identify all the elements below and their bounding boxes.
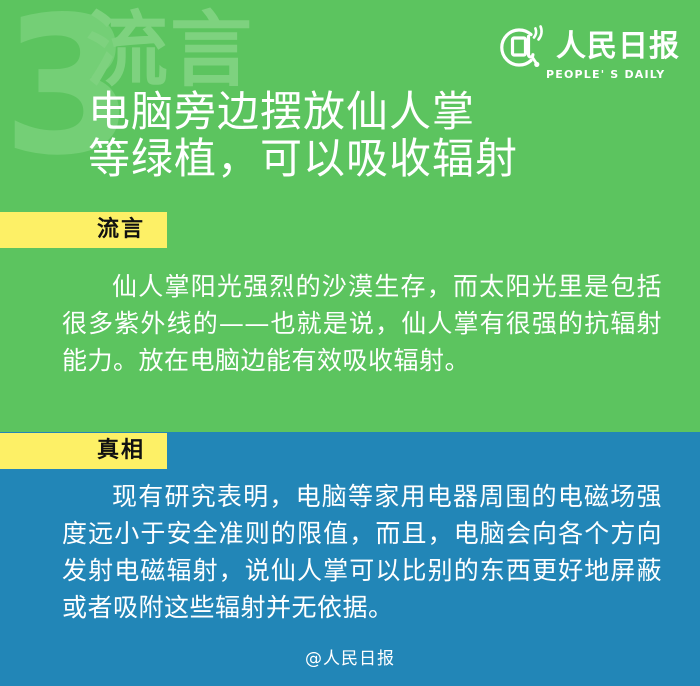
page-title-line-1: 电脑旁边摆放仙人掌 [88, 88, 688, 135]
footer-credit: @人民日报 [0, 648, 700, 670]
rumor-word-watermark: 流言 [86, 8, 254, 94]
section-body-truth: 现有研究表明，电脑等家用电器周围的电磁场强度远小于安全准则的限值，而且，电脑会向… [62, 478, 662, 626]
section-tag-truth: 真相 [0, 433, 167, 469]
poster-root: 3 流言 人民日报 [0, 0, 700, 686]
at-sign-wifi-icon [498, 24, 550, 70]
peoples-daily-logo: 人民日报 PEOPLE' S DAILY [498, 26, 686, 88]
page-title: 电脑旁边摆放仙人掌 等绿植，可以吸收辐射 [88, 88, 688, 182]
section-tag-rumor: 流言 [0, 212, 167, 248]
logo-row: 人民日报 [498, 26, 686, 68]
logo-name-cn: 人民日报 [556, 31, 680, 63]
page-title-line-2: 等绿植，可以吸收辐射 [88, 135, 688, 182]
logo-name-en: PEOPLE' S DAILY [546, 68, 665, 81]
section-body-rumor: 仙人掌阳光强烈的沙漠生存，而太阳光里是包括很多紫外线的——也就是说，仙人掌有很强… [62, 268, 662, 379]
